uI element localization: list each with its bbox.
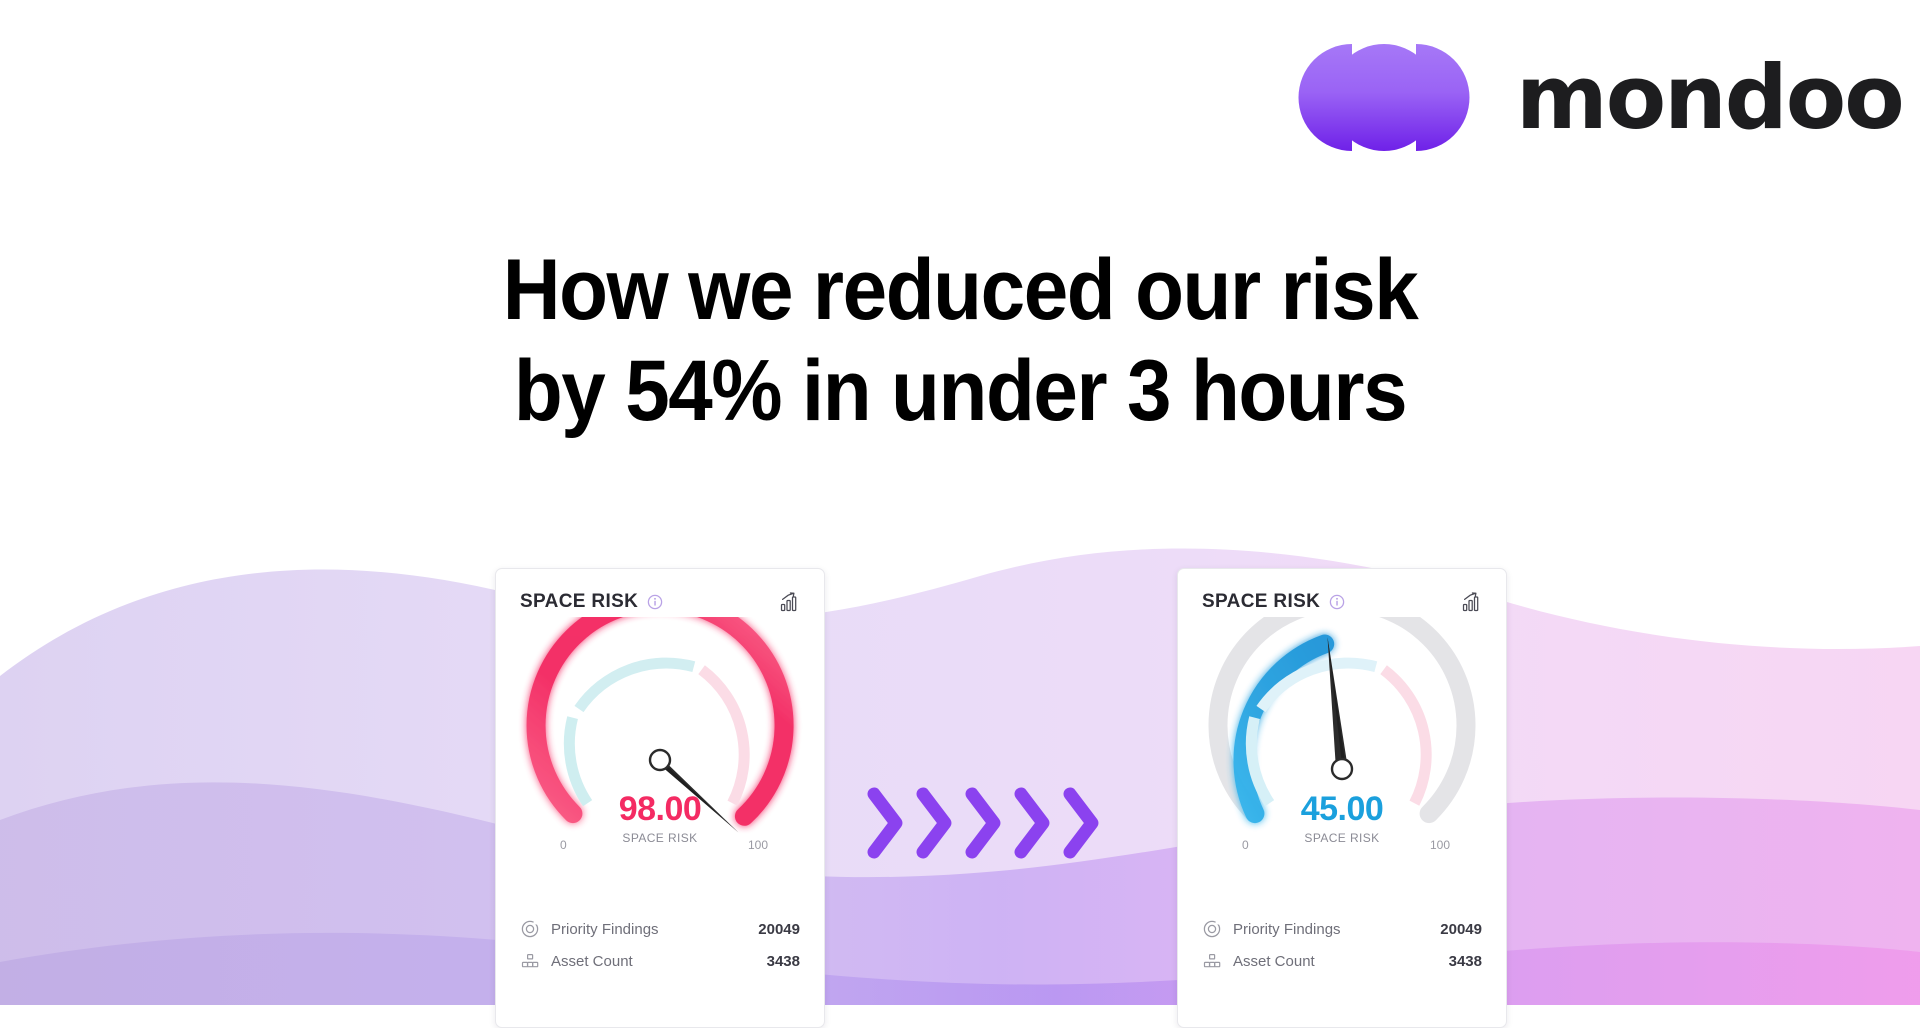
space-risk-card-after[interactable]: SPACE RISK <box>1177 568 1507 1028</box>
stat-row-asset-count: Asset Count 3438 <box>1202 945 1482 977</box>
assets-stack-icon <box>1202 951 1222 971</box>
mondoo-logo-icon <box>1278 40 1490 155</box>
gauge-caption-before: SPACE RISK <box>496 831 824 845</box>
card-title: SPACE RISK <box>1202 591 1320 613</box>
gauge-max-label-before: 100 <box>748 838 768 852</box>
card-header: SPACE RISK <box>1178 569 1506 613</box>
gauge-after: 45.00 SPACE RISK 0 100 <box>1178 617 1506 907</box>
gauge-caption-after: SPACE RISK <box>1178 831 1506 845</box>
headline-line-2: by 54% in under 3 hours <box>67 341 1853 442</box>
headline-line-1: How we reduced our risk <box>67 240 1853 341</box>
card-title-group: SPACE RISK <box>1202 591 1345 613</box>
brand-logo: mondoo <box>1278 40 1903 155</box>
gauge-svg-after <box>1192 617 1492 867</box>
stat-value: 3438 <box>1449 953 1482 970</box>
brand-wordmark: mondoo <box>1516 54 1903 142</box>
info-icon[interactable] <box>1329 594 1345 610</box>
stat-row-priority-findings: Priority Findings 20049 <box>520 913 800 945</box>
chevron-right-icon <box>915 786 955 860</box>
stat-label: Priority Findings <box>1233 921 1440 938</box>
bar-chart-trend-icon[interactable] <box>780 592 800 612</box>
card-title: SPACE RISK <box>520 591 638 613</box>
stat-label: Asset Count <box>1233 953 1449 970</box>
card-header: SPACE RISK <box>496 569 824 613</box>
target-icon <box>1202 919 1222 939</box>
target-icon <box>520 919 540 939</box>
gauge-max-label-after: 100 <box>1430 838 1450 852</box>
info-icon[interactable] <box>647 594 663 610</box>
stat-value: 20049 <box>758 921 800 938</box>
stat-value: 20049 <box>1440 921 1482 938</box>
stat-label: Priority Findings <box>551 921 758 938</box>
space-risk-card-before[interactable]: SPACE RISK <box>495 568 825 1028</box>
stat-row-priority-findings: Priority Findings 20049 <box>1202 913 1482 945</box>
gauge-svg-before <box>510 617 810 867</box>
chevron-right-icon <box>964 786 1004 860</box>
chevron-right-icon <box>1013 786 1053 860</box>
transition-chevrons <box>866 775 1116 870</box>
bar-chart-trend-icon[interactable] <box>1462 592 1482 612</box>
stat-label: Asset Count <box>551 953 767 970</box>
gauge-min-label-after: 0 <box>1242 838 1249 852</box>
stat-value: 3438 <box>767 953 800 970</box>
gauge-value-before: 98.00 <box>496 792 824 826</box>
chevron-right-icon <box>866 786 906 860</box>
gauge-value-after: 45.00 <box>1178 792 1506 826</box>
card-footer-after: Priority Findings 20049 Asset Count 3438 <box>1178 907 1506 977</box>
assets-stack-icon <box>520 951 540 971</box>
card-footer-before: Priority Findings 20049 Asset Count 3438 <box>496 907 824 977</box>
card-title-group: SPACE RISK <box>520 591 663 613</box>
gauge-before: 98.00 SPACE RISK 0 100 <box>496 617 824 907</box>
stat-row-asset-count: Asset Count 3438 <box>520 945 800 977</box>
chevron-right-icon <box>1062 786 1102 860</box>
gauge-min-label-before: 0 <box>560 838 567 852</box>
page-title: How we reduced our risk by 54% in under … <box>67 240 1853 443</box>
